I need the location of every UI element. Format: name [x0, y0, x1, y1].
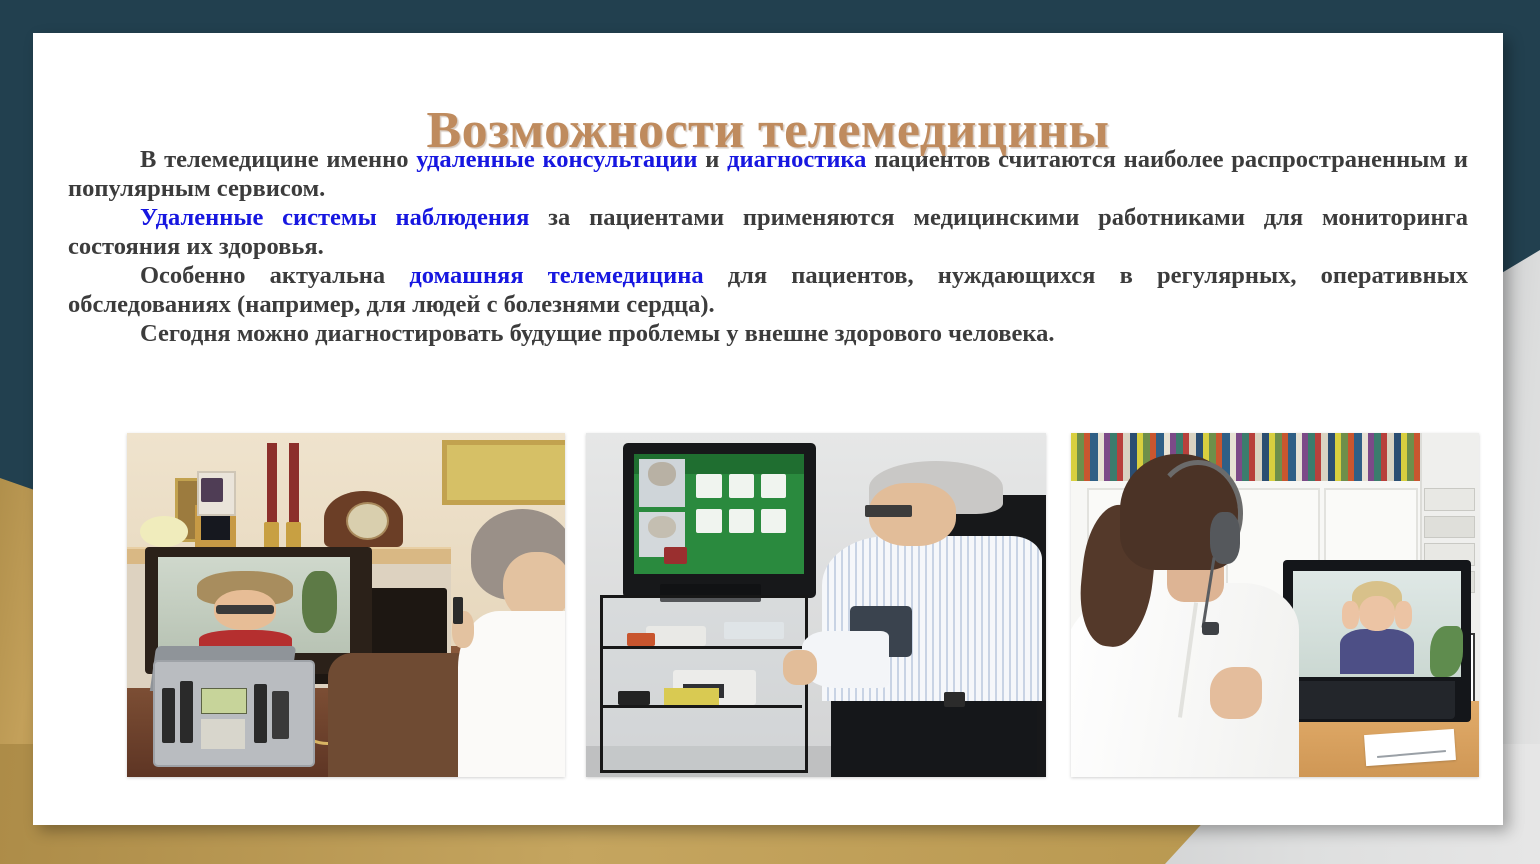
body-text-run: и [698, 146, 728, 173]
paragraph-3: Особенно актуальна домашняя телемедицина… [68, 261, 1468, 319]
highlighted-term: домашняя телемедицина [409, 262, 703, 289]
software-icon-6 [761, 509, 786, 533]
video-tile-doctor-head [648, 462, 676, 486]
software-icon-3 [761, 474, 786, 498]
headset-earcup-icon [1210, 512, 1241, 564]
highlighted-term: диагностика [727, 146, 866, 173]
medical-device-6 [627, 633, 655, 647]
body-text-run: Особенно актуальна [140, 262, 409, 289]
doctor-foreground [1071, 454, 1299, 777]
medical-device-2 [724, 622, 784, 639]
doctor-hand [1210, 667, 1262, 719]
diagnostic-case [153, 660, 315, 767]
screen-background-plant [1430, 626, 1463, 678]
patient-hand-left [1342, 601, 1360, 629]
software-alert-icon [664, 547, 687, 564]
medical-device-4 [664, 688, 719, 705]
patient-on-screen [1340, 581, 1413, 674]
software-icon-2 [729, 474, 754, 498]
patient-hand-right [1395, 601, 1413, 629]
highlighted-term: Удаленные системы наблюдения [140, 204, 529, 231]
photo-home-tv-consultation [127, 433, 565, 777]
rack-shelf-lower [600, 705, 802, 708]
patient-glasses [865, 505, 913, 518]
body-text-run: В телемедицине именно [140, 146, 416, 173]
paragraph-2: Удаленные системы наблюдения за пациента… [68, 203, 1468, 261]
photo-2-scene [586, 433, 1046, 777]
framed-photo-portrait [201, 478, 223, 502]
diagnostic-probe-3 [254, 684, 267, 742]
photo-gallery [93, 433, 1473, 783]
handheld-remote [453, 597, 464, 624]
photo-doctor-video-call [1071, 433, 1479, 777]
patient-hand [783, 650, 816, 685]
diagnostic-probe-1 [162, 688, 175, 743]
software-icon-5 [729, 509, 754, 533]
slide-content-card: Возможности телемедицины В телемедицине … [33, 33, 1503, 825]
diagnostic-case-keypad [201, 719, 245, 750]
wristwatch [944, 692, 966, 708]
photo-home-monitoring-station [586, 433, 1046, 777]
paragraph-1: В телемедицине именно удаленные консульт… [68, 145, 1468, 203]
elderly-patient-male [798, 461, 1037, 777]
wall-picture-frame [442, 440, 565, 505]
screen-background-plant [302, 571, 337, 633]
diagnostic-probe-4 [272, 691, 290, 739]
body-text-run: Сегодня можно диагностировать будущие пр… [140, 320, 1054, 347]
diagnostic-probe-2 [180, 681, 193, 743]
document-tray-2 [1424, 516, 1475, 539]
medical-device-5 [618, 691, 650, 705]
doctor-glasses [216, 605, 274, 613]
video-tile-patient-head [648, 516, 676, 538]
document-tray-1 [1424, 488, 1475, 511]
rack-shelf-middle [600, 646, 802, 649]
software-icon-1 [696, 474, 721, 498]
flower-arrangement [140, 516, 188, 547]
presentation-slide: Возможности телемедицины В телемедицине … [0, 0, 1540, 864]
elderly-patient [442, 509, 565, 777]
patient-blazer [1340, 629, 1413, 674]
software-icon-4 [696, 509, 721, 533]
photo-3-scene [1071, 433, 1479, 777]
doctor-on-screen [197, 571, 293, 654]
headset-mic-icon [1202, 622, 1219, 635]
patient-face [1359, 596, 1394, 631]
photo-1-scene [127, 433, 565, 777]
slide-body-text: В телемедицине именно удаленные консульт… [68, 145, 1468, 348]
highlighted-term: удаленные консультации [416, 146, 697, 173]
display-box-inset [201, 514, 229, 540]
laptop-keyboard [1295, 681, 1454, 719]
diagnostic-case-display [201, 688, 247, 714]
paragraph-4: Сегодня можно диагностировать будущие пр… [68, 319, 1468, 348]
